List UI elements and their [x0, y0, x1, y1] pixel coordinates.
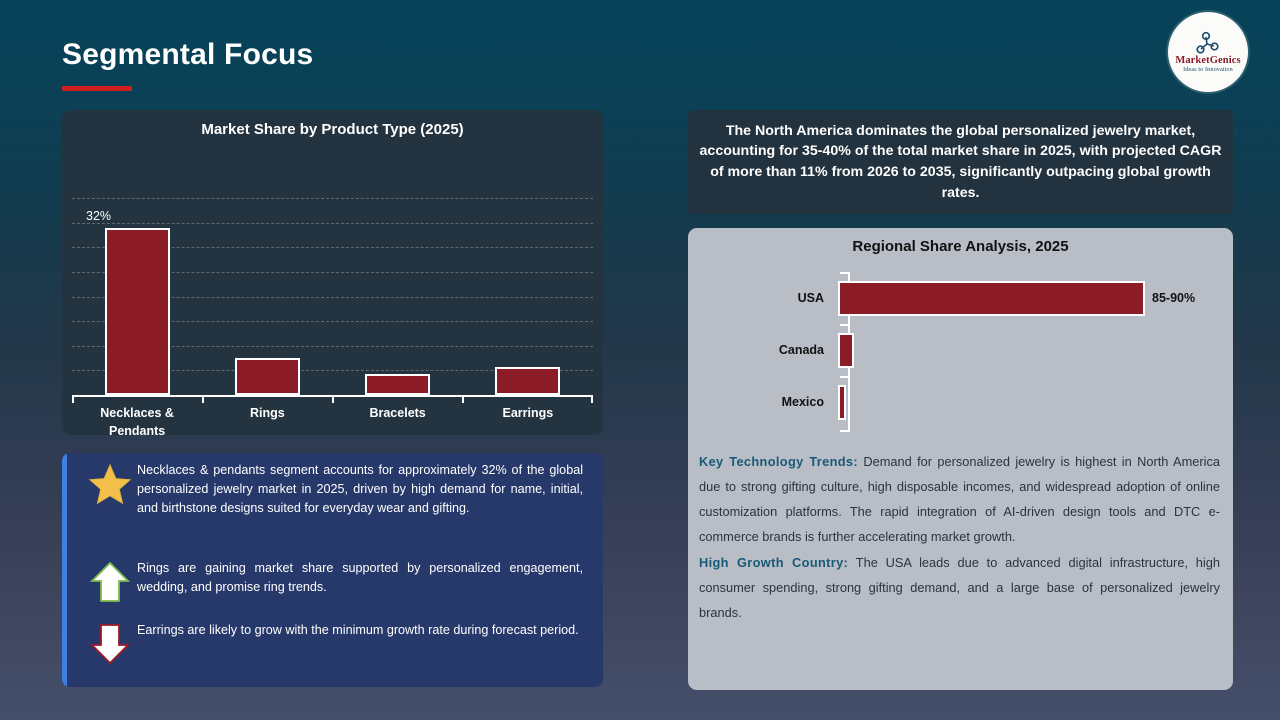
bar-slot-necklaces: 32%: [72, 198, 202, 395]
bar-value-label: 85-90%: [1152, 291, 1195, 305]
category-label: Mexico: [688, 395, 836, 409]
hbar-row-canada: Canada: [688, 328, 1233, 372]
bar-value-label: 32%: [86, 209, 111, 223]
axis-tick: [840, 272, 849, 274]
chart-title: Regional Share Analysis, 2025: [688, 238, 1233, 255]
hbar-row-usa: USA 85-90%: [688, 276, 1233, 320]
regional-share-panel: Regional Share Analysis, 2025 USA 85-90%…: [688, 228, 1233, 690]
logo-tagline: Ideas to Innovation: [1183, 67, 1233, 73]
bar-usa: [838, 281, 1145, 316]
bar-necklaces-pendants: [105, 228, 170, 395]
list-item: Rings are gaining market share supported…: [82, 559, 593, 603]
logo-name: MarketGenics: [1175, 56, 1240, 67]
category-label: Bracelets: [333, 404, 463, 440]
bar-slot-bracelets: [333, 198, 463, 395]
category-label: Canada: [688, 343, 836, 357]
axis-tick: [591, 395, 593, 403]
bar-slot-rings: [202, 198, 332, 395]
regional-description: Key Technology Trends: Demand for person…: [699, 450, 1220, 627]
arrow-up-icon: [82, 559, 137, 603]
paragraph: Key Technology Trends: Demand for person…: [699, 450, 1220, 550]
x-axis-category-labels: Necklaces & Pendants Rings Bracelets Ear…: [72, 404, 593, 440]
paragraph: High Growth Country: The USA leads due t…: [699, 551, 1220, 626]
chart-title: Market Share by Product Type (2025): [62, 121, 603, 138]
star-icon: [82, 461, 137, 505]
bar-bracelets: [365, 374, 430, 395]
insight-text: Rings are gaining market share supported…: [137, 559, 593, 597]
callout-banner: The North America dominates the global p…: [688, 110, 1233, 214]
bar-canada: [838, 333, 854, 368]
insights-panel: Necklaces & pendants segment accounts fo…: [62, 453, 603, 687]
bar-mexico: [838, 385, 846, 420]
panel-accent-bar: [62, 453, 67, 687]
axis-tick: [462, 395, 464, 403]
bar-group: 32%: [72, 198, 593, 395]
paragraph-lead: Key Technology Trends:: [699, 454, 858, 469]
hbar-row-mexico: Mexico: [688, 380, 1233, 424]
axis-tick: [840, 376, 849, 378]
bar-slot-earrings: [463, 198, 593, 395]
category-label: Necklaces & Pendants: [72, 404, 202, 440]
callout-text: The North America dominates the global p…: [696, 121, 1225, 203]
arrow-down-icon: [82, 621, 137, 665]
bar-earrings: [495, 367, 560, 395]
axis-tick: [72, 395, 74, 403]
axis-tick: [332, 395, 334, 403]
list-item: Earrings are likely to grow with the min…: [82, 621, 593, 665]
product-type-chart-panel: Market Share by Product Type (2025) 32%: [62, 110, 603, 435]
network-nodes-icon: [1195, 31, 1221, 56]
chart-plot-area: 32%: [72, 198, 593, 395]
category-label: USA: [688, 291, 836, 305]
category-label: Rings: [202, 404, 332, 440]
regional-plot-area: USA 85-90% Canada Mexico: [688, 266, 1233, 436]
axis-tick: [840, 324, 849, 326]
insight-text: Earrings are likely to grow with the min…: [137, 621, 593, 640]
category-label: Earrings: [463, 404, 593, 440]
axis-tick: [202, 395, 204, 403]
page-title: Segmental Focus: [62, 38, 313, 72]
list-item: Necklaces & pendants segment accounts fo…: [82, 461, 593, 518]
paragraph-lead: High Growth Country:: [699, 555, 848, 570]
axis-tick: [840, 430, 849, 432]
brand-logo: MarketGenics Ideas to Innovation: [1168, 12, 1248, 92]
bar-rings: [235, 358, 300, 395]
insight-text: Necklaces & pendants segment accounts fo…: [137, 461, 593, 518]
title-underline: [62, 86, 132, 91]
